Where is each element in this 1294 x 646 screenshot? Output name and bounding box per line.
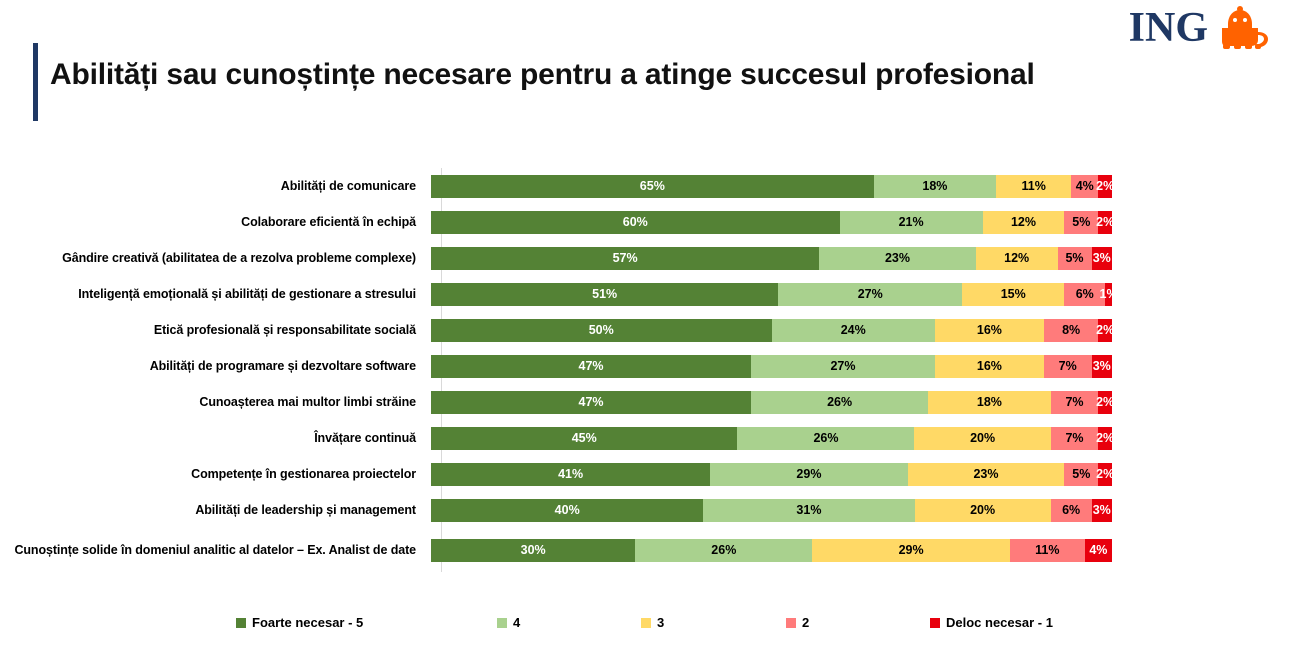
category-label: Învățare continuă xyxy=(0,431,428,446)
bar-segment: 5% xyxy=(1064,463,1098,486)
category-label: Cunoașterea mai multor limbi străine xyxy=(0,395,428,410)
legend-item[interactable]: 4 xyxy=(497,615,520,630)
bar-segment: 20% xyxy=(914,427,1050,450)
bar-segment: 1% xyxy=(1105,283,1112,306)
legend-label: 2 xyxy=(802,615,809,630)
bar-segment: 60% xyxy=(431,211,840,234)
bar-segment: 31% xyxy=(703,499,914,522)
legend-label: Deloc necesar - 1 xyxy=(946,615,1053,630)
bar-segment: 5% xyxy=(1058,247,1092,270)
chart-row: Abilități de leadership și management40%… xyxy=(0,492,1294,528)
legend-item[interactable]: Deloc necesar - 1 xyxy=(930,615,1053,630)
chart-row: Abilități de programare și dezvoltare so… xyxy=(0,348,1294,384)
bar-segment: 47% xyxy=(431,391,751,414)
bar-segment: 16% xyxy=(935,355,1044,378)
bar-segment: 3% xyxy=(1092,247,1112,270)
bar-segment: 27% xyxy=(778,283,962,306)
legend-label: 4 xyxy=(513,615,520,630)
legend-label: 3 xyxy=(657,615,664,630)
bar-segment: 15% xyxy=(962,283,1064,306)
bar-segment: 18% xyxy=(928,391,1051,414)
chart-row: Colaborare eficientă în echipă60%21%12%5… xyxy=(0,204,1294,240)
legend-swatch-icon xyxy=(641,618,651,628)
bar-segment: 5% xyxy=(1064,211,1098,234)
category-label: Competențe în gestionarea proiectelor xyxy=(0,467,428,482)
bar-segment: 2% xyxy=(1098,175,1112,198)
bar-segment: 29% xyxy=(710,463,907,486)
bar-segment: 40% xyxy=(431,499,703,522)
chart-row: Cunoștințe solide în domeniul analitic a… xyxy=(0,528,1294,572)
ing-logo: ING xyxy=(1129,6,1272,50)
legend-swatch-icon xyxy=(930,618,940,628)
bar-segment: 21% xyxy=(840,211,983,234)
stacked-bar-chart: Abilități de comunicare65%18%11%4%2%Cola… xyxy=(0,168,1294,580)
chart-row: Cunoașterea mai multor limbi străine47%2… xyxy=(0,384,1294,420)
bar-segment: 29% xyxy=(812,539,1009,562)
bar-segment: 27% xyxy=(751,355,935,378)
bar-segment: 8% xyxy=(1044,319,1098,342)
bar-segment: 20% xyxy=(915,499,1051,522)
bar-segment: 7% xyxy=(1051,427,1099,450)
stacked-bar: 60%21%12%5%2% xyxy=(431,211,1112,234)
legend-swatch-icon xyxy=(236,618,246,628)
chart-legend: Foarte necesar - 5432Deloc necesar - 1 xyxy=(0,607,1294,637)
stacked-bar: 51%27%15%6%1% xyxy=(431,283,1112,306)
bar-segment: 51% xyxy=(431,283,778,306)
bar-segment: 57% xyxy=(431,247,819,270)
stacked-bar: 41%29%23%5%2% xyxy=(431,463,1112,486)
category-label: Colaborare eficientă în echipă xyxy=(0,215,428,230)
chart-row: Abilități de comunicare65%18%11%4%2% xyxy=(0,168,1294,204)
category-label: Etică profesională și responsabilitate s… xyxy=(0,323,428,338)
bar-segment: 65% xyxy=(431,175,874,198)
bar-segment: 6% xyxy=(1051,499,1092,522)
bar-segment: 30% xyxy=(431,539,635,562)
bar-segment: 23% xyxy=(819,247,976,270)
bar-segment: 45% xyxy=(431,427,737,450)
bar-segment: 4% xyxy=(1071,175,1098,198)
stacked-bar: 47%26%18%7%2% xyxy=(431,391,1112,414)
legend-label: Foarte necesar - 5 xyxy=(252,615,363,630)
bar-segment: 26% xyxy=(737,427,914,450)
category-label: Cunoștințe solide în domeniul analitic a… xyxy=(0,543,428,558)
legend-item[interactable]: 2 xyxy=(786,615,809,630)
chart-row: Etică profesională și responsabilitate s… xyxy=(0,312,1294,348)
category-label: Abilități de comunicare xyxy=(0,179,428,194)
bar-segment: 23% xyxy=(908,463,1065,486)
page-title: Abilități sau cunoștințe necesare pentru… xyxy=(50,58,1200,92)
bar-segment: 2% xyxy=(1098,391,1112,414)
bar-segment: 24% xyxy=(772,319,935,342)
bar-segment: 50% xyxy=(431,319,772,342)
bar-segment: 3% xyxy=(1092,355,1112,378)
chart-row: Inteligență emoțională și abilități de g… xyxy=(0,276,1294,312)
bar-segment: 7% xyxy=(1044,355,1092,378)
stacked-bar: 40%31%20%6%3% xyxy=(431,499,1112,522)
stacked-bar: 47%27%16%7%3% xyxy=(431,355,1112,378)
bar-segment: 2% xyxy=(1098,427,1112,450)
bar-segment: 11% xyxy=(996,175,1071,198)
bar-segment: 47% xyxy=(431,355,751,378)
bar-segment: 16% xyxy=(935,319,1044,342)
bar-segment: 2% xyxy=(1098,463,1112,486)
ing-wordmark: ING xyxy=(1129,7,1208,49)
stacked-bar: 30%26%29%11%4% xyxy=(431,539,1112,562)
stacked-bar: 57%23%12%5%3% xyxy=(431,247,1112,270)
bar-segment: 12% xyxy=(983,211,1065,234)
bar-segment: 7% xyxy=(1051,391,1099,414)
category-label: Inteligență emoțională și abilități de g… xyxy=(0,287,428,302)
stacked-bar: 45%26%20%7%2% xyxy=(431,427,1112,450)
ing-lion-icon xyxy=(1214,6,1272,50)
legend-item[interactable]: 3 xyxy=(641,615,664,630)
bar-segment: 12% xyxy=(976,247,1058,270)
category-label: Abilități de programare și dezvoltare so… xyxy=(0,359,428,374)
bar-segment: 26% xyxy=(751,391,928,414)
chart-rows: Abilități de comunicare65%18%11%4%2%Cola… xyxy=(0,168,1294,572)
title-accent-bar xyxy=(33,43,38,121)
bar-segment: 11% xyxy=(1010,539,1085,562)
bar-segment: 18% xyxy=(874,175,997,198)
bar-segment: 2% xyxy=(1098,319,1112,342)
chart-row: Învățare continuă45%26%20%7%2% xyxy=(0,420,1294,456)
slide: ING Abilități sau cunoștințe necesare pe… xyxy=(0,0,1294,646)
bar-segment: 3% xyxy=(1092,499,1112,522)
legend-swatch-icon xyxy=(786,618,796,628)
category-label: Abilități de leadership și management xyxy=(0,503,428,518)
bar-segment: 41% xyxy=(431,463,710,486)
bar-segment: 2% xyxy=(1098,211,1112,234)
stacked-bar: 50%24%16%8%2% xyxy=(431,319,1112,342)
legend-item[interactable]: Foarte necesar - 5 xyxy=(236,615,363,630)
bar-segment: 4% xyxy=(1085,539,1112,562)
legend-swatch-icon xyxy=(497,618,507,628)
category-label: Gândire creativă (abilitatea de a rezolv… xyxy=(0,251,428,266)
chart-row: Competențe în gestionarea proiectelor41%… xyxy=(0,456,1294,492)
chart-row: Gândire creativă (abilitatea de a rezolv… xyxy=(0,240,1294,276)
stacked-bar: 65%18%11%4%2% xyxy=(431,175,1112,198)
bar-segment: 26% xyxy=(635,539,812,562)
